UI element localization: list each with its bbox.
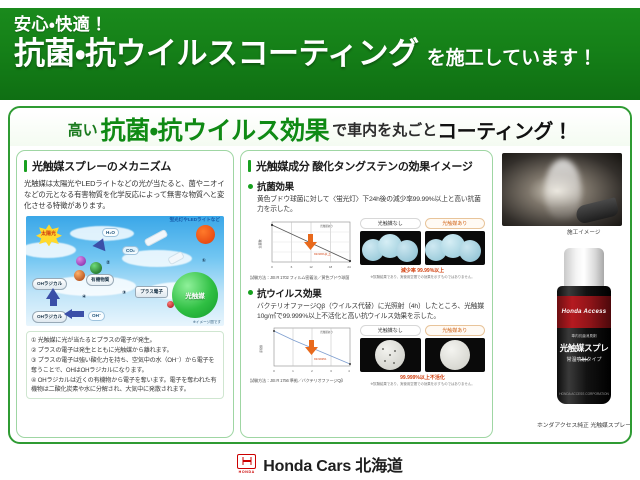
note-item: ④ OHラジカルは近くの有機物から電子を奪います。電子を奪われた有機物は二酸化炭… (31, 376, 219, 395)
mechanism-panel-title: 光触媒スプレーのメカニズム (24, 158, 226, 174)
lamp-icon (196, 225, 215, 244)
svg-text:1: 1 (292, 369, 294, 373)
efficacy-title-text: 光触媒成分 酸化タングステンの効果イメージ (256, 158, 473, 174)
content-card: 高い 抗菌・抗ウイルス効果 で車内を丸ごと コーティング！ 光触媒スプレーのメカ… (8, 106, 632, 444)
efficacy-panel: 光触媒成分 酸化タングステンの効果イメージ 抗菌効果 黄色ブドウ球菌に対して〈蛍… (240, 150, 493, 438)
poster: 安心・快適！ 抗菌・抗ウイルスコーティング を施工しています！ 高い 抗菌・抗ウ… (0, 0, 640, 480)
organic-matter-label: 有機物質 (86, 274, 114, 286)
accent-bar-icon (24, 160, 27, 172)
svg-text:光触媒あり: 光触媒あり (320, 330, 333, 334)
note-item: ① 光触媒に光が当たるとプラスの電子が発生。 (31, 336, 219, 345)
step-2-number: ② (106, 260, 110, 266)
photo-label-without: 光触媒なし (360, 325, 421, 336)
subtitle-highlight: 抗菌・抗ウイルス効果 (101, 111, 330, 147)
antibacterial-chart-caption: 試験方法：JIS R 1702 フィルム密着法／黄色ブドウ球菌 (250, 275, 356, 280)
efficacy-panel-title: 光触媒成分 酸化タングステンの効果イメージ (248, 158, 485, 174)
honda-logo-icon: HONDA (237, 454, 256, 474)
antibacterial-result: 減少率 99.99%以上 (360, 267, 485, 274)
header-main-title: 抗菌・抗ウイルスコーティング (14, 38, 419, 71)
svg-text:4: 4 (348, 369, 350, 373)
molecule-dot (76, 256, 86, 266)
antibacterial-body: 黄色ブドウ球菌に対して〈蛍光灯〉下24h後の減少率99.99%以上と高い抗菌力を… (257, 195, 485, 215)
arrow-stem-icon (72, 311, 84, 317)
diagram-note: ※イメージ図です (193, 320, 221, 325)
antiviral-fine-print: ※試験結果であり、実使用空間での効果を示すものではありません。 (360, 382, 485, 387)
catalyst-sphere: 光触媒 (172, 272, 218, 318)
nozzle-shape (574, 197, 619, 225)
antiviral-result: 99.999%以上不活化 (360, 374, 485, 381)
antiviral-chart-caption: 試験方法：JIS R 1756 準拠／バクテリオファージQβ (250, 378, 356, 383)
photo-label-with: 光触媒あり (425, 325, 486, 336)
header-tail-text: を施工しています！ (427, 49, 597, 69)
accent-bar-icon (248, 160, 251, 172)
blue-arrow-up-icon (46, 288, 60, 299)
photo-row: 光触媒なし 光触媒あり (360, 325, 485, 372)
petri-dish-without (360, 231, 421, 265)
mist-shape (545, 159, 581, 219)
honda-wordmark: HONDA (239, 470, 255, 474)
svg-text:0: 0 (273, 369, 275, 373)
bottle-brand-band: Honda Access (557, 296, 611, 328)
svg-text:24: 24 (347, 265, 351, 269)
spray-application-photo (502, 153, 622, 226)
bullet-dot-icon (248, 184, 253, 189)
plaque-dish-with (425, 338, 486, 372)
co2-bubble: CO₂ (122, 246, 139, 255)
step-4-number: ④ (82, 294, 86, 300)
catalyst-label: 光触媒 (185, 290, 205, 300)
bottle-subtitle: 車内抗菌消臭剤 (557, 334, 611, 339)
photocatalyst-diagram: 太陽光 蛍光灯やLEDライトなど H₂O CO₂ ② ① ③ ④ 有機物質 OH… (26, 216, 224, 326)
bullet-dot-icon (248, 290, 253, 295)
fluorescent-tube-icon (144, 229, 169, 247)
bottle-caption: ホンダアクセス純正 光触媒スプレー (524, 420, 632, 429)
antibacterial-line-chart: 生菌数 0 6 12 18 24 99.99%以上 光触媒あり (250, 218, 356, 274)
product-bottle: Honda Access 車内抗菌消臭剤 光触媒スプレー 常温噴射タイプ HON… (529, 248, 632, 416)
footer: HONDA Honda Cars 北海道 (0, 448, 640, 480)
header-banner: 安心・快適！ 抗菌・抗ウイルスコーティング を施工しています！ (0, 8, 640, 100)
photo-col-control: 光触媒なし (360, 218, 421, 265)
antibacterial-label: 抗菌効果 (257, 179, 294, 193)
cloud-shape (26, 242, 76, 258)
photo-col-treated: 光触媒あり (425, 218, 486, 265)
photo-col-control: 光触媒なし (360, 325, 421, 372)
svg-text:光触媒あり: 光触媒あり (320, 224, 333, 228)
antiviral-line-chart: 感染価 0 1 2 3 4 99.999% 光触媒あり (250, 325, 356, 377)
petri-dish-with (425, 231, 486, 265)
antibacterial-evidence: 生菌数 0 6 12 18 24 99.99%以上 光触媒あり 試験方法：JIS… (250, 218, 485, 280)
subtitle-strong: コーティング！ (437, 115, 572, 144)
subtitle-lead: 高い (68, 119, 98, 140)
mechanism-body-text: 光触媒は太陽光やLEDライトなどの光が当たると、菌やニオイなどの元となる有害物質… (24, 178, 226, 211)
dish-shape (396, 240, 418, 262)
antibacterial-fine-print: ※試験結果であり、実使用空間での効果を示すものではありません。 (360, 275, 485, 280)
antiviral-body: バクテリオファージQβ（ウイルス代替）に光照射（4h）したところ、光触媒10g/… (257, 302, 485, 322)
photo-label-without: 光触媒なし (360, 218, 421, 229)
photo-label-with: 光触媒あり (425, 218, 486, 229)
header-main-row: 抗菌・抗ウイルスコーティング を施工しています！ (14, 38, 640, 71)
molecule-dot (90, 262, 102, 274)
antibacterial-section-head: 抗菌効果 (248, 179, 485, 193)
antibacterial-photos: 光触媒なし 光触媒あり (360, 218, 485, 280)
svg-text:3: 3 (330, 369, 332, 373)
sun-label: 太陽光 (41, 230, 56, 237)
note-item: ③ プラスの電子は強い酸化力を持ち、空気中の水（OH⁻）から電子を奪うことで、O… (31, 356, 219, 375)
antiviral-photos: 光触媒なし 光触媒あり (360, 325, 485, 387)
photo-col-treated: 光触媒あり (425, 325, 486, 372)
hydroxide-bubble: OH⁻ (88, 311, 105, 321)
radical-lower-label: OHラジカル (32, 311, 67, 323)
step-3-number: ③ (122, 290, 126, 296)
bottle-footer-text: HONDA ACCESS CORPORATION (557, 392, 611, 396)
svg-text:2: 2 (311, 369, 313, 373)
bottle-brand-text: Honda Access (562, 309, 607, 315)
led-label: 蛍光灯やLEDライトなど (169, 217, 220, 223)
svg-text:18: 18 (329, 265, 333, 269)
antibacterial-chart: 生菌数 0 6 12 18 24 99.99%以上 光触媒あり 試験方法：JIS… (250, 218, 356, 280)
subtitle-strip: 高い 抗菌・抗ウイルス効果 で車内を丸ごと コーティング！ (10, 112, 630, 146)
svg-text:0: 0 (271, 265, 273, 269)
mechanism-panel: 光触媒スプレーのメカニズム 光触媒は太陽光やLEDライトなどの光が当たると、菌や… (16, 150, 234, 438)
dealer-name: Honda Cars 北海道 (263, 452, 402, 476)
antiviral-section-head: 抗ウイルス効果 (248, 286, 485, 300)
svg-text:感染価: 感染価 (259, 345, 263, 353)
bottle-type: 常温噴射タイプ (557, 356, 611, 363)
antiviral-label: 抗ウイルス効果 (257, 286, 321, 300)
mechanism-title-text: 光触媒スプレーのメカニズム (32, 158, 171, 174)
svg-text:99.999%: 99.999% (314, 357, 326, 361)
svg-text:6: 6 (291, 265, 293, 269)
antiviral-chart: 感染価 0 1 2 3 4 99.999% 光触媒あり 試験方法：JIS R 1… (250, 325, 356, 383)
spray-photo-caption: 施工イメージ (567, 228, 600, 236)
bottle-cap (564, 248, 604, 290)
bottle-body: Honda Access 車内抗菌消臭剤 光触媒スプレー 常温噴射タイプ HON… (557, 286, 611, 404)
subtitle-mid: で車内を丸ごと (332, 119, 437, 140)
step-1-number: ① (202, 258, 206, 264)
mechanism-notes: ① 光触媒に光が当たるとプラスの電子が発生。 ② プラスの電子は発生とともに光触… (26, 331, 224, 399)
photo-row: 光触媒なし 光触媒あり (360, 218, 485, 265)
svg-text:99.99%以上: 99.99%以上 (314, 251, 331, 256)
dish-shape (459, 240, 481, 262)
h2o-bubble: H₂O (102, 228, 119, 237)
honda-h-mark-icon (237, 454, 256, 469)
svg-text:12: 12 (309, 265, 313, 269)
header-subtitle: 安心・快適！ (14, 16, 640, 35)
svg-text:生菌数: 生菌数 (257, 240, 262, 249)
note-item: ② プラスの電子は発生とともに光触媒から離れます。 (31, 346, 219, 355)
plaque-dish-without (360, 338, 421, 372)
blue-arrow-left-icon (64, 309, 72, 319)
plus-electron-label: プラス電子 (135, 286, 168, 298)
antiviral-evidence: 感染価 0 1 2 3 4 99.999% 光触媒あり 試験方法：JIS R 1… (250, 325, 485, 387)
dish-shape (440, 340, 470, 370)
